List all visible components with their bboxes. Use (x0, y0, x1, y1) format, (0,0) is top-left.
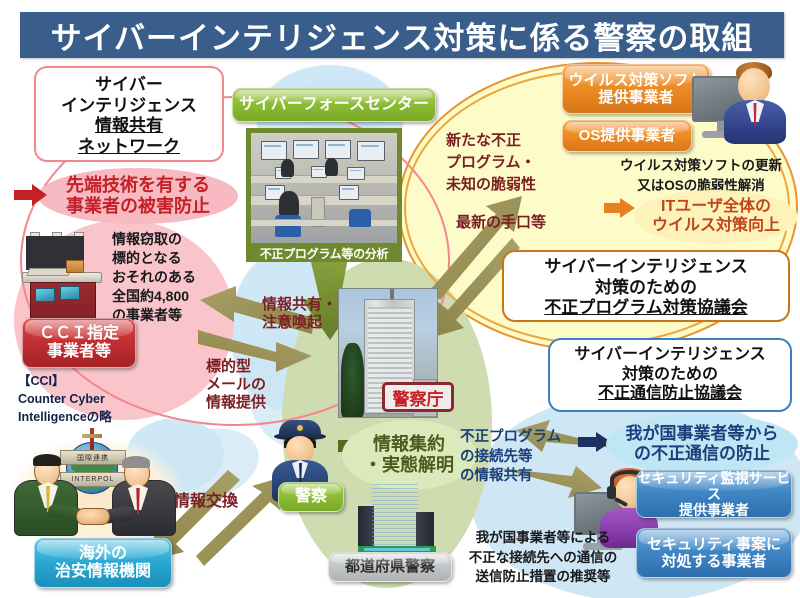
malware-dest-line-2: の接続先等 (460, 448, 562, 468)
cfc-photo-caption: 不正プログラム等の分析 (251, 243, 397, 263)
malware-council-line-3: 不正プログラム対策協議会 (504, 298, 788, 319)
monitor-pill-line-2: 提供事業者 (679, 502, 749, 518)
page-title: サイバーインテリジェンス対策に係る警察の取組 (51, 13, 754, 58)
target-line-1: 情報窃取の (112, 230, 220, 249)
pill-os-vendor[interactable]: OS提供事業者 (562, 120, 692, 152)
handshake-hands (76, 508, 110, 525)
share-alert-line-2: 注意喚起 (262, 314, 372, 332)
label-targeted-mail-info: 標的型 メールの 情報提供 (206, 358, 292, 412)
comm-council-line-2: 対策のための (550, 365, 790, 385)
monitor-pill-line-1: セキュリティ監視サービス (637, 470, 791, 502)
cfc-label: サイバーフォースセンター (239, 96, 429, 114)
server-rack-illustration (22, 232, 108, 332)
prefectural-police-building (358, 484, 438, 556)
pill-overseas-security-agency[interactable]: 海外の 治安情報機関 (34, 538, 172, 588)
pill-police[interactable]: 警察 (278, 482, 344, 512)
cci-pill-line-2: 事業者等 (47, 343, 111, 361)
ellipse-info-aggregation: 情報集約 ・実態解明 (342, 420, 476, 490)
ellipse-prevent-illicit-comm: 我が国事業者等から の不正通信の防止 (606, 414, 798, 474)
note-antivirus-update: ウイルス対策ソフトの更新 又はOSの脆弱性解消 (608, 156, 794, 195)
br-note-line-3: 送信防止措置の推奨等 (452, 567, 634, 587)
label-new-malware: 新たな不正 プログラム・ 未知の脆弱性 (446, 130, 562, 195)
pill-prefectural-police[interactable]: 都道府県警察 (328, 552, 452, 582)
arrow-orange-it-user (604, 196, 636, 220)
antivirus-line-1: ウイルス対策ソフト (568, 72, 703, 89)
cci-note-line-3: Intelligenceの略 (18, 408, 168, 426)
latest-methods-text: 最新の手口等 (456, 214, 546, 231)
label-info-exchange: 情報交換 (174, 492, 282, 511)
core-line-1: 情報集約 (373, 434, 445, 455)
cci-note-line-2: Counter Cyber (18, 390, 168, 408)
callout-comm-prevention-council: サイバーインテリジェンス 対策のための 不正通信防止協議会 (548, 338, 792, 412)
targeted-mail-line-2: メールの (206, 376, 292, 394)
pill-cyber-force-center[interactable]: サイバーフォースセンター (232, 88, 436, 122)
incident-pill-line-2: 対処する事業者 (661, 553, 766, 570)
pref-police-label: 都道府県警察 (345, 558, 435, 575)
pill-security-monitoring-provider[interactable]: セキュリティ監視サービス 提供事業者 (636, 470, 792, 518)
page-title-bar: サイバーインテリジェンス対策に係る警察の取組 (20, 12, 784, 58)
network-line-1: サイバー (36, 75, 222, 96)
malware-council-line-2: 対策のための (504, 278, 788, 299)
pill-incident-response-provider[interactable]: セキュリティ事案に 対処する事業者 (636, 528, 792, 578)
network-line-3: 情報共有 (36, 116, 222, 137)
pill-cci-designated-operators[interactable]: ＣＣＩ指定 事業者等 (22, 318, 136, 368)
comm-council-line-3: 不正通信防止協議会 (550, 384, 790, 404)
overseas-line-2: 治安情報機関 (55, 563, 151, 581)
label-share-and-alert: 情報共有・ 注意喚起 (262, 296, 372, 332)
incident-pill-line-1: セキュリティ事案に (647, 536, 781, 553)
malware-dest-line-3: の情報共有 (460, 467, 562, 487)
new-malware-line-1: 新たな不正 (446, 130, 562, 152)
share-alert-line-1: 情報共有・ (262, 296, 372, 314)
new-malware-line-3: 未知の脆弱性 (446, 174, 562, 196)
police-label: 警察 (295, 488, 327, 506)
ellipse-it-user-improvement: ITユーザ全体の ウイルス対策向上 (634, 190, 798, 244)
comm-council-line-1: サイバーインテリジェンス (550, 345, 790, 365)
globe-band-top: 国際連携 (60, 450, 126, 465)
targeted-mail-line-3: 情報提供 (206, 394, 292, 412)
label-npa: 警察庁 (382, 382, 454, 412)
core-line-2: ・実態解明 (364, 455, 454, 476)
benefit-line-2: 事業者の被害防止 (66, 196, 210, 217)
targeted-mail-line-1: 標的型 (206, 358, 292, 376)
br-note-line-1: 我が国事業者等による (452, 528, 634, 548)
label-malware-destination-sharing: 不正プログラム の接続先等 の情報共有 (460, 428, 562, 487)
international-handshake-illustration: 国際連携 INTERPOL (8, 436, 188, 546)
cci-target-description: 情報窃取の 標的となる おそれのある 全国約4,800 の事業者等 (112, 230, 220, 324)
cyber-force-center-photo-frame: 不正プログラム等の分析 (246, 128, 402, 262)
it-user-line-2: ウイルス対策向上 (652, 217, 780, 236)
arrow-red-benefit (14, 182, 48, 208)
overseas-line-1: 海外の (79, 545, 127, 563)
cci-note-line-1: 【CCI】 (18, 372, 168, 390)
network-line-4: ネットワーク (36, 137, 222, 158)
cci-abbreviation-note: 【CCI】 Counter Cyber Intelligenceの略 (18, 372, 168, 426)
note-send-prevention-measures: 我が国事業者等による 不正な接続先への通信の 送信防止措置の推奨等 (452, 528, 634, 587)
cci-pill-line-1: ＣＣＩ指定 (39, 325, 119, 343)
network-line-2: インテリジェンス (36, 96, 222, 117)
br-note-line-2: 不正な接続先への通信の (452, 548, 634, 568)
antivirus-line-2: 提供事業者 (598, 89, 673, 106)
new-malware-line-2: プログラム・ (446, 152, 562, 174)
malware-dest-line-1: 不正プログラム (460, 428, 562, 448)
label-latest-methods: 最新の手口等 (456, 214, 572, 232)
target-line-4: 全国約4,800 (112, 287, 220, 306)
benefit-line-1: 先端技術を有する (66, 175, 210, 196)
prevent-line-1: 我が国事業者等から (626, 424, 779, 444)
target-line-2: 標的となる (112, 249, 220, 268)
npa-label-text: 警察庁 (393, 385, 444, 410)
callout-malware-council: サイバーインテリジェンス 対策のための 不正プログラム対策協議会 (502, 250, 790, 322)
vendor-person-icon (722, 62, 788, 144)
operations-room-photo (251, 133, 397, 243)
ellipse-advanced-tech-damage-prevention: 先端技術を有する 事業者の被害防止 (38, 168, 238, 224)
target-line-3: おそれのある (112, 268, 220, 287)
callout-info-sharing-network: サイバー インテリジェンス 情報共有 ネットワーク (34, 66, 224, 162)
update-note-line-1: ウイルス対策ソフトの更新 (608, 156, 794, 176)
prevent-line-2: の不正通信の防止 (634, 444, 770, 464)
infographic-canvas: サイバーインテリジェンス対策に係る警察の取組 サイバー インテリジェンス 情報共… (0, 0, 800, 598)
pill-antivirus-vendor[interactable]: ウイルス対策ソフト 提供事業者 (562, 64, 710, 114)
os-pill-label: OS提供事業者 (579, 127, 676, 144)
malware-council-line-1: サイバーインテリジェンス (504, 257, 788, 278)
it-user-line-1: ITユーザ全体の (661, 198, 771, 217)
info-exchange-text: 情報交換 (174, 493, 238, 510)
